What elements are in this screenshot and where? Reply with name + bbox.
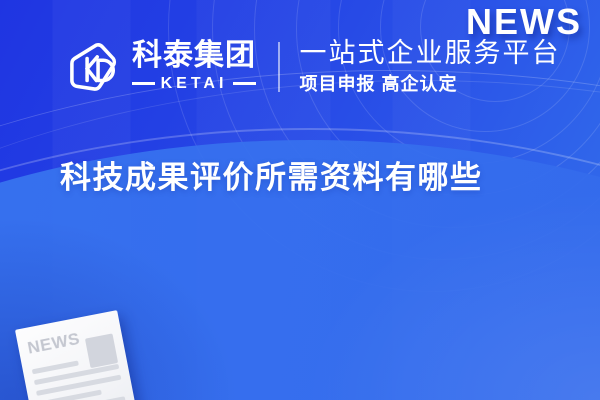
article-headline: 科技成果评价所需资料有哪些	[60, 158, 483, 198]
logo-dash-right	[233, 82, 256, 85]
news-banner: NEWS 科泰集团	[0, 0, 600, 400]
ketai-wordmark: 科泰集团 KETAI	[132, 40, 256, 93]
tagline-primary: 一站式企业服务平台	[300, 38, 561, 70]
banner-header: 科泰集团 KETAI 一站式企业服务平台 项目申报 高企认定	[66, 38, 560, 95]
ketai-logo[interactable]: 科泰集团 KETAI	[66, 40, 256, 94]
logo-company-name-en: KETAI	[161, 75, 228, 93]
logo-dash-left	[132, 82, 155, 85]
company-tagline: 一站式企业服务平台 项目申报 高企认定	[300, 38, 561, 95]
ketai-diamond-k-monogram-icon	[66, 40, 120, 94]
news-corner-label: NEWS	[466, 2, 582, 42]
logo-company-name-cn: 科泰集团	[132, 40, 256, 72]
tagline-secondary: 项目申报 高企认定	[300, 74, 561, 96]
header-divider	[278, 42, 280, 92]
logo-company-name-en-row: KETAI	[132, 75, 256, 93]
